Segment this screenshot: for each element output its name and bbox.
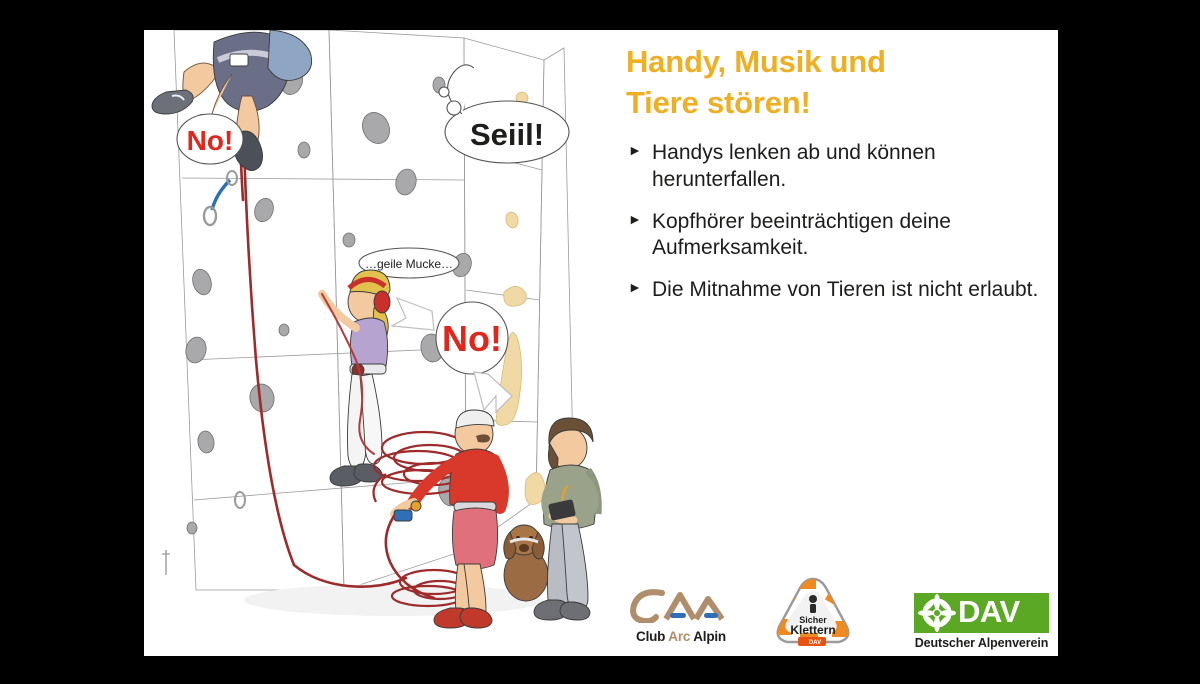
caa-word-alpin: Alpin xyxy=(693,629,726,644)
sicher-klettern-dav-tab: DAV xyxy=(809,640,821,646)
caa-word-arc: Arc xyxy=(668,629,693,644)
bullet-arrow-icon: ► xyxy=(628,280,642,294)
caa-wordmark: Club Arc Alpin xyxy=(626,629,736,644)
climbing-wall-illustration: .ln{stroke:#9a9a9a;stroke-width:0.8;fill… xyxy=(144,30,614,630)
climber-belayer-woman xyxy=(322,270,390,486)
bubble-seiil-text: Seiil! xyxy=(470,117,544,152)
dav-subtitle: Deutscher Alpenverein xyxy=(914,636,1049,650)
list-item-text: Die Mitnahme von Tieren ist nicht erlaub… xyxy=(652,278,1038,301)
bullet-arrow-icon: ► xyxy=(628,143,642,157)
list-item: ► Die Mitnahme von Tieren ist nicht erla… xyxy=(626,277,1046,304)
caa-mark-icon xyxy=(626,587,736,623)
page-title: Handy, Musik und Tiere stören! xyxy=(626,42,1046,124)
list-item-text: Handys lenken ab und können herunterfall… xyxy=(652,141,936,191)
list-item: ► Handys lenken ab und können herunterfa… xyxy=(626,140,1046,194)
bubble-no-top: No! xyxy=(177,114,243,164)
list-item: ► Kopfhörer beeinträchtigen deine Aufmer… xyxy=(626,209,1046,263)
bubble-no-top-text: No! xyxy=(187,125,234,156)
bubble-no-center: No! xyxy=(392,298,512,412)
logo-sicher-klettern: Sicher Klettern DAV xyxy=(770,575,856,656)
dav-abbr: DAV xyxy=(958,592,1020,632)
page-title-line1: Handy, Musik und xyxy=(626,42,1046,83)
logo-club-arc-alpin: Club Arc Alpin xyxy=(626,587,736,644)
quickdraw-lower xyxy=(235,492,245,508)
caa-word-club: Club xyxy=(636,629,668,644)
dog xyxy=(504,525,548,601)
edelweiss-icon xyxy=(917,593,957,633)
bubble-seiil: Seiil! xyxy=(439,65,569,163)
logo-dav: DAV Deutscher Alpenverein xyxy=(914,593,1054,650)
sicher-klettern-line2: Klettern xyxy=(790,623,835,637)
bullet-list: ► Handys lenken ab und können herunterfa… xyxy=(626,140,1046,304)
list-item-text: Kopfhörer beeinträchtigen deine Aufmerks… xyxy=(652,210,951,260)
logo-row: Club Arc Alpin xyxy=(614,575,1054,655)
dav-green-box: DAV xyxy=(914,593,1049,633)
sicher-klettern-badge-icon: Sicher Klettern DAV xyxy=(770,575,856,653)
slide-canvas: .ln{stroke:#9a9a9a;stroke-width:0.8;fill… xyxy=(144,30,1058,656)
bullet-arrow-icon: ► xyxy=(628,212,642,226)
bubble-mucke-text: …geile Mucke… xyxy=(365,257,453,271)
page-title-line2: Tiere stören! xyxy=(626,83,1046,124)
bubble-no-center-text: No! xyxy=(442,318,502,359)
artist-signature xyxy=(162,550,170,575)
quickdraw xyxy=(204,171,237,225)
text-column: Handy, Musik und Tiere stören! ► Handys … xyxy=(626,42,1046,319)
